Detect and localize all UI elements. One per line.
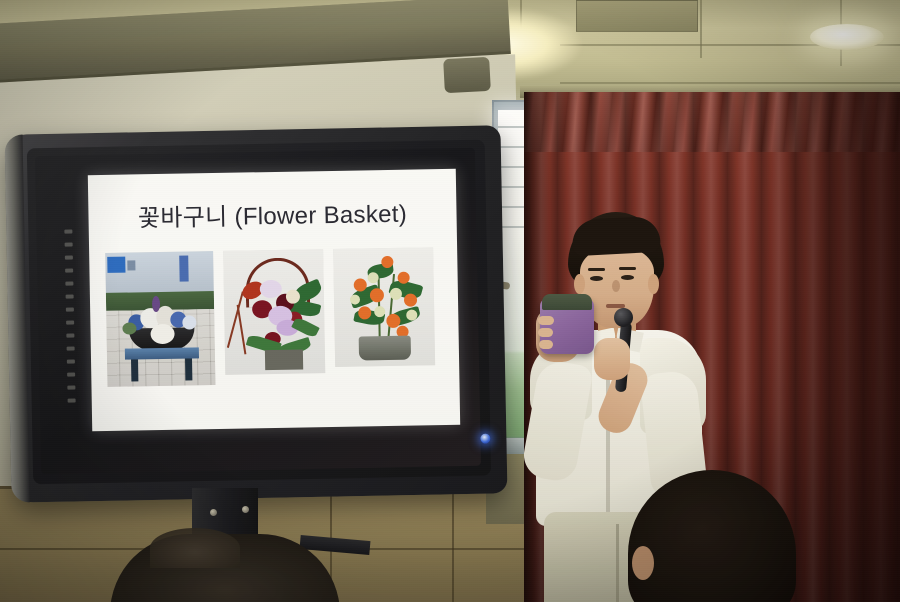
photo1-blue-sign: [107, 257, 125, 273]
photo-scene: 꽃바구니 (Flower Basket): [0, 0, 900, 602]
ceiling-light-fixture: [810, 24, 884, 50]
slide-photo-3: [333, 247, 435, 367]
presentation-slide: 꽃바구니 (Flower Basket): [88, 169, 460, 431]
stand-bolt: [210, 509, 217, 516]
photo1-bench-leg: [131, 359, 138, 381]
presenter-eyebrow: [619, 267, 636, 270]
presenter-ear: [648, 274, 659, 294]
photo2-basket-base: [265, 350, 303, 371]
presenter-hair-fringe: [571, 216, 661, 257]
presenter-ear: [574, 274, 585, 294]
projection-screen-roller-cap: [443, 57, 491, 93]
presenter-fingers: [538, 328, 553, 337]
held-box-lid: [542, 294, 592, 310]
ceiling-grid-line: [700, 0, 702, 58]
microphone-head[interactable]: [614, 308, 633, 327]
presenter-eye: [590, 276, 603, 281]
audience-head: [628, 470, 796, 602]
presenter-right-hand: [594, 338, 630, 380]
slide-photo-1: [105, 251, 215, 387]
presenter-fingers: [539, 340, 553, 349]
presenter-fingers: [538, 316, 554, 325]
ceiling-grid-line: [560, 82, 900, 84]
slide-photo-row: [105, 247, 443, 387]
ceiling-vent: [576, 0, 698, 32]
photo1-flower: [152, 296, 160, 312]
stand-bolt: [242, 506, 249, 513]
photo1-bench-leg: [185, 358, 192, 380]
slide-title: 꽃바구니 (Flower Basket): [88, 193, 457, 234]
photo3-metal-pot: [359, 336, 411, 361]
photo1-sign-post: [127, 260, 135, 270]
presenter-eye: [621, 275, 634, 280]
audience-hair-tuft: [150, 528, 240, 568]
presenter-nose: [612, 280, 620, 292]
photo1-blue-banner: [179, 255, 188, 281]
audience-member-right: [628, 470, 796, 602]
presenter-eyebrow: [588, 268, 605, 271]
wainscot-seam: [452, 488, 454, 602]
audience-ear: [632, 546, 654, 580]
slide-photo-2: [223, 249, 325, 375]
presenter-trouser-seam: [616, 524, 619, 602]
